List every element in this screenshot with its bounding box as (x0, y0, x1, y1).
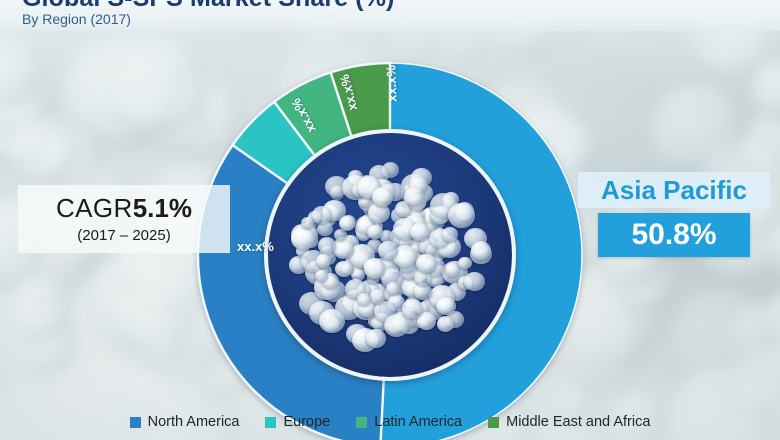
highlight-region-label: Asia Pacific (578, 172, 770, 208)
legend-label-europe: Europe (283, 414, 330, 430)
cagr-period: (2017 – 2025) (77, 227, 170, 244)
donut-chart (190, 55, 590, 440)
header-band: Global S-SPS Market Share (%) By Region … (0, 0, 780, 31)
page-subtitle: By Region (2017) (22, 11, 131, 27)
cagr-headline: CAGR5.1% (56, 195, 192, 221)
legend-item-latin-america[interactable]: Latin America (356, 414, 462, 430)
infographic-canvas: Global S-SPS Market Share (%) By Region … (0, 0, 780, 440)
highlight-region-value: 50.8% (598, 213, 750, 257)
donut-segment-asia-pacific (380, 63, 582, 440)
legend-label-latin-america: Latin America (374, 414, 462, 430)
legend-swatch-north-america (130, 417, 141, 428)
legend-item-europe[interactable]: Europe (265, 414, 330, 430)
legend-swatch-latin-america (356, 417, 367, 428)
legend-item-middle-east-and-africa[interactable]: Middle East and Africa (488, 414, 650, 430)
cagr-callout: CAGR5.1% (2017 – 2025) (18, 185, 230, 253)
legend-swatch-europe (265, 417, 276, 428)
legend-item-north-america[interactable]: North America (130, 414, 240, 430)
cagr-value: 5.1% (133, 193, 192, 223)
cagr-label: CAGR (56, 193, 133, 223)
legend-label-north-america: North America (148, 414, 240, 430)
legend-label-middle-east-and-africa: Middle East and Africa (506, 414, 650, 430)
legend-swatch-middle-east-and-africa (488, 417, 499, 428)
chart-legend: North AmericaEuropeLatin AmericaMiddle E… (0, 404, 780, 440)
